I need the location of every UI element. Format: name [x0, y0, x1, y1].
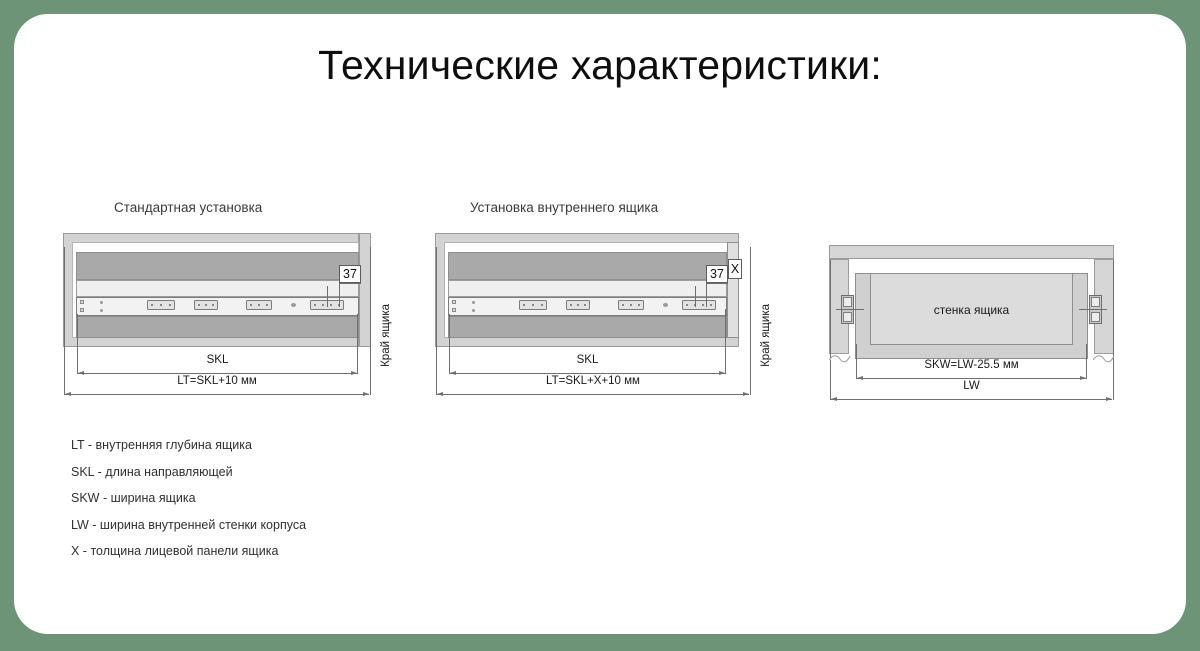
rail-hole-2b [452, 308, 456, 312]
dim-skl-line-1 [78, 373, 357, 374]
carcass-top-bar-3 [829, 245, 1114, 259]
rail-slot-group-1 [147, 300, 175, 310]
rail-slot-group-6 [566, 300, 590, 310]
slide-rail-inner-2 [448, 280, 727, 297]
drawer-edge-label-2: Край ящика [760, 304, 772, 367]
rail-hole-1b [80, 308, 84, 312]
diagram-drawer-width-section: стенка ящика SKW=LW-25.5 мм LW [804, 14, 1186, 414]
bracket-right-bottom-3 [1091, 312, 1100, 322]
bracket-left-top-3 [843, 297, 852, 307]
dim-skw-ext-right-3 [1086, 344, 1087, 379]
dim-lt-arrow-left-1 [65, 392, 71, 396]
dim-lw-line-3 [831, 399, 1112, 400]
dim-skl-line-2 [450, 373, 725, 374]
diagram-1-title: Стандартная установка [114, 200, 262, 215]
drawer-panel-lower-1 [76, 316, 359, 338]
rail-dot-1a [100, 301, 103, 304]
bracket-right-top-3 [1091, 297, 1100, 307]
dim-lw-arrow-right-3 [1106, 397, 1112, 401]
drawer-wall-label-3: стенка ящика [870, 303, 1073, 317]
slide-frame: Технические характеристики: Стандартная … [14, 14, 1186, 634]
dim-lt-arrow-left-2 [437, 392, 443, 396]
rail-dot-2b [472, 309, 475, 312]
front-panel-column-2 [727, 242, 739, 338]
rail-slot-group-5 [519, 300, 547, 310]
drawer-panel-upper-1 [76, 252, 359, 280]
legend-item-skw: SKW - ширина ящика [71, 491, 306, 505]
dim-skl-ext-right-1 [357, 314, 358, 374]
dim-lt-ext-left-2 [436, 247, 437, 395]
offset-badge-1: 37 [339, 265, 361, 283]
rail-slot-group-3 [246, 300, 272, 310]
dim-lt-line-2 [437, 394, 749, 395]
dim-lw-ext-left-3 [830, 260, 831, 400]
offset-leader-h-1 [339, 283, 361, 284]
break-mark-right-3 [1093, 350, 1115, 366]
legend-list: LT - внутренняя глубина ящика SKL - длин… [71, 438, 306, 571]
diagram-standard-installation: Стандартная установка 37 [14, 14, 414, 414]
dim-skw-label-3: SKW=LW-25.5 мм [855, 359, 1088, 371]
dim-skl-ext-left-2 [449, 314, 450, 374]
legend-item-x: X - толщина лицевой панели ящика [71, 544, 306, 558]
dim-lw-arrow-left-3 [831, 397, 837, 401]
slide-rail-inner-1 [76, 280, 359, 297]
dim-lt-label-2: LT=SKL+X+10 мм [435, 375, 751, 387]
rail-hole-2a [452, 300, 456, 304]
dim-skl-ext-right-2 [725, 309, 726, 374]
offset-leader-h-2 [706, 283, 728, 284]
legend-item-skl: SKL - длина направляющей [71, 465, 306, 479]
legend-item-lw: LW - ширина внутренней стенки корпуса [71, 518, 306, 532]
rail-dot-1b [100, 309, 103, 312]
dim-skw-ext-left-3 [856, 344, 857, 379]
dim-skl-ext-left-1 [77, 314, 78, 374]
dim-lt-ext-right-2 [750, 247, 751, 395]
offset-leader-v-4 [695, 286, 696, 307]
rail-dot-2a [472, 301, 475, 304]
dim-lt-line-1 [65, 394, 369, 395]
offset-leader-v-3 [706, 283, 707, 307]
dim-lw-ext-right-3 [1113, 260, 1114, 400]
dim-skl-label-1: SKL [76, 354, 359, 366]
dim-lt-arrow-right-2 [743, 392, 749, 396]
bracket-right-axis-3 [1079, 309, 1107, 310]
dim-lt-label-1: LT=SKL+10 мм [63, 375, 371, 387]
offset-leader-v-1 [339, 283, 340, 307]
rail-dot-1c [291, 303, 296, 307]
rail-dot-2c [663, 303, 668, 307]
offset-badge-2: 37 [706, 265, 728, 283]
dim-lw-label-3: LW [829, 380, 1114, 392]
front-thickness-badge-2: X [728, 259, 742, 279]
dim-lt-ext-left-1 [64, 247, 65, 395]
dim-lt-ext-right-1 [370, 247, 371, 395]
dim-skl-label-2: SKL [448, 354, 727, 366]
rail-hole-1a [80, 300, 84, 304]
dim-skw-line-3 [857, 378, 1086, 379]
rail-slot-group-7 [618, 300, 644, 310]
rail-slot-group-8 [682, 300, 716, 310]
drawer-panel-lower-2 [448, 316, 727, 338]
drawer-panel-upper-2 [448, 252, 727, 280]
offset-leader-v-2 [327, 286, 328, 307]
bracket-left-axis-3 [836, 309, 864, 310]
bracket-left-bottom-3 [843, 312, 852, 322]
diagram-2-title: Установка внутреннего ящика [470, 200, 658, 215]
diagram-inner-drawer-installation: Установка внутреннего ящика 37 X [386, 14, 796, 414]
break-mark-left-3 [829, 350, 851, 366]
legend-item-lt: LT - внутренняя глубина ящика [71, 438, 306, 452]
dim-lt-arrow-right-1 [363, 392, 369, 396]
rail-slot-group-2 [194, 300, 218, 310]
